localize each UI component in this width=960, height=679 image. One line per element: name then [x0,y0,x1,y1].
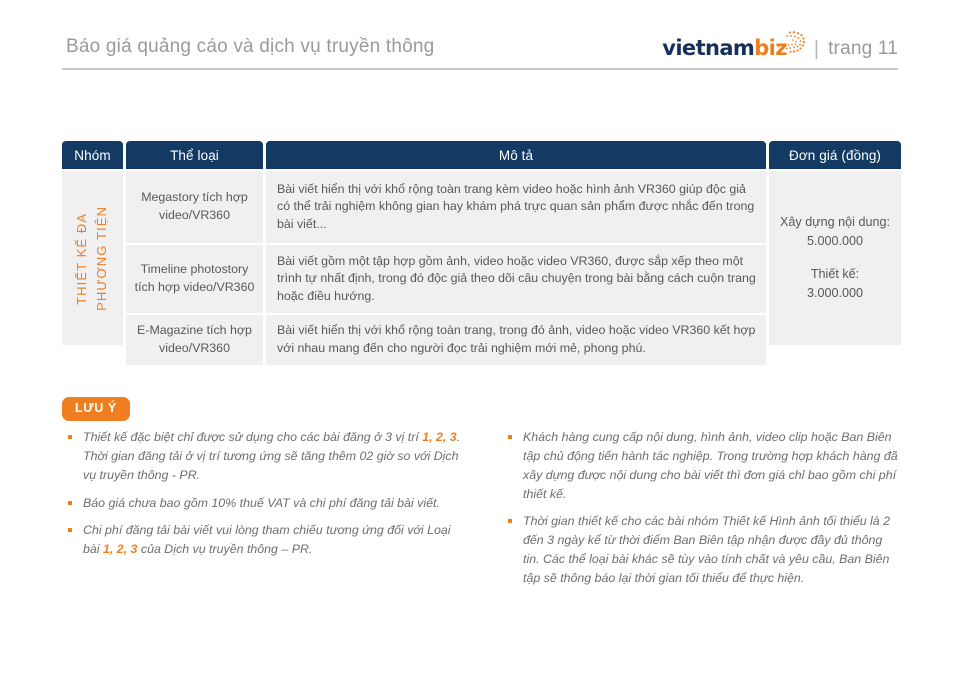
header-rule-divider [62,68,898,70]
group-vertical-label: THIẾT KẾ ĐA PHƯƠNG TIỆN [72,206,112,311]
column-header-type: Thể loại [126,141,263,169]
table-body: THIẾT KẾ ĐA PHƯƠNG TIỆN Megastory tích h… [62,171,898,365]
group-cell: THIẾT KẾ ĐA PHƯƠNG TIỆN [62,171,123,345]
table-header-row: Nhóm Thể loại Mô tả Đơn giá (đồng) [62,141,898,169]
table-row: Megastory tích hợp video/VR360 Bài viết … [126,171,766,243]
price-content-label: Xây dựng nội dung: [780,213,890,232]
column-header-price: Đơn giá (đồng) [769,141,901,169]
note-text: Báo giá chưa bao gồm 10% thuế VAT và chi… [83,496,440,510]
bullet-icon [68,528,72,532]
note-item: Báo giá chưa bao gồm 10% thuế VAT và chi… [62,494,462,513]
note-item: Chi phí đăng tải bài viết vui lòng tham … [62,521,462,559]
note-item: Thời gian thiết kế cho các bài nhóm Thiế… [502,512,902,587]
logo-swoosh-icon [776,30,806,60]
notes-list-right: Khách hàng cung cấp nội dung, hình ảnh, … [502,428,902,588]
row-type-label: Timeline photostory tích hợp video/VR360 [126,245,263,313]
notes-column-left: Thiết kế đặc biệt chỉ được sử dụng cho c… [62,428,462,597]
row-description-text: Bài viết gồm một tập hợp gồm ảnh, video … [266,245,766,313]
column-header-description: Mô tả [266,141,766,169]
row-description-text: Bài viết hiển thị với khổ rộng toàn tran… [266,171,766,243]
page-number-label: trang 11 [828,38,898,60]
price-design-label: Thiết kế: [811,265,859,284]
header-brand-area: vietnambiz | trang 11 [662,36,898,62]
bullet-icon [508,519,512,523]
bullet-icon [68,435,72,439]
page-header: Báo giá quảng cáo và dịch vụ truyền thôn… [0,0,960,72]
note-text: Thời gian thiết kế cho các bài nhóm Thiế… [523,514,890,585]
note-text: Thiết kế đặc biệt chỉ được sử dụng cho c… [83,430,422,444]
note-highlight: 1, 2, 3 [103,542,137,556]
notes-list-left: Thiết kế đặc biệt chỉ được sử dụng cho c… [62,428,462,559]
row-type-label: E-Magazine tích hợp video/VR360 [126,315,263,365]
table-row: Timeline photostory tích hợp video/VR360… [126,245,766,313]
note-highlight: 1, 2, 3 [422,430,456,444]
price-cell: Xây dựng nội dung: 5.000.000 Thiết kế: 3… [769,171,901,345]
price-content-value: 5.000.000 [807,232,863,251]
note-text: Khách hàng cung cấp nội dung, hình ảnh, … [523,430,898,501]
header-divider: | [814,38,819,61]
logo-text-primary: vietnam [662,36,754,60]
notes-column-right: Khách hàng cung cấp nội dung, hình ảnh, … [502,428,902,597]
notes-section: Thiết kế đặc biệt chỉ được sử dụng cho c… [62,428,902,597]
notes-badge: LƯU Ý [62,397,130,421]
bullet-icon [68,501,72,505]
price-design-value: 3.000.000 [807,284,863,303]
table-rows-stack: Megastory tích hợp video/VR360 Bài viết … [126,171,766,365]
column-header-group: Nhóm [62,141,123,169]
row-description-text: Bài viết hiển thị với khổ rộng toàn tran… [266,315,766,365]
vietnambiz-logo: vietnambiz [662,36,787,62]
note-item: Thiết kế đặc biệt chỉ được sử dụng cho c… [62,428,462,485]
note-item: Khách hàng cung cấp nội dung, hình ảnh, … [502,428,902,503]
note-text: của Dịch vụ truyền thông – PR. [137,542,312,556]
bullet-icon [508,435,512,439]
page-title: Báo giá quảng cáo và dịch vụ truyền thôn… [66,36,434,58]
row-type-label: Megastory tích hợp video/VR360 [126,171,263,243]
pricing-table: Nhóm Thể loại Mô tả Đơn giá (đồng) THIẾT… [62,141,898,365]
table-row: E-Magazine tích hợp video/VR360 Bài viết… [126,315,766,365]
